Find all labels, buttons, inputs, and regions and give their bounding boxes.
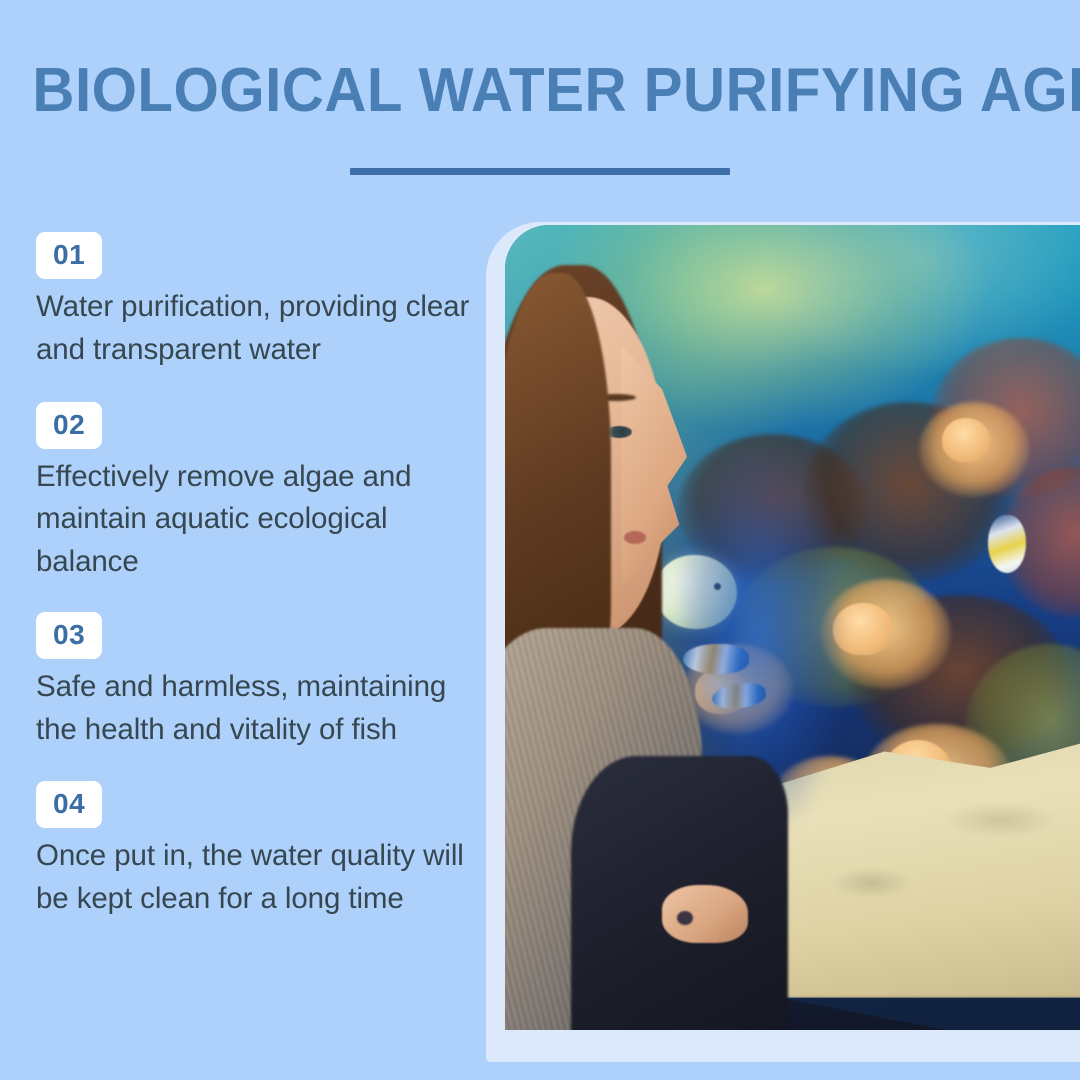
- feature-item-02: 02 Effectively remove algae and maintain…: [36, 402, 488, 584]
- feature-badge-02: 02: [36, 402, 102, 449]
- feature-badge-03: 03: [36, 612, 102, 659]
- coral-polyp-5: [942, 418, 990, 462]
- title-block: BIOLOGICAL WATER PURIFYING AGENT: [0, 58, 1080, 175]
- feature-badge-01: 01: [36, 232, 102, 279]
- feature-text-04: Once put in, the water quality will be k…: [36, 835, 488, 921]
- photo-content: [505, 225, 1080, 1030]
- feature-item-03: 03 Safe and harmless, maintaining the he…: [36, 612, 488, 752]
- infographic-poster: BIOLOGICAL WATER PURIFYING AGENT 01 Wate…: [0, 0, 1080, 1080]
- feature-item-04: 04 Once put in, the water quality will b…: [36, 781, 488, 921]
- feature-badge-04: 04: [36, 781, 102, 828]
- feature-text-03: Safe and harmless, maintaining the healt…: [36, 666, 488, 752]
- aquarium-photo: [505, 225, 1080, 1030]
- page-title: BIOLOGICAL WATER PURIFYING AGENT: [32, 58, 1047, 123]
- feature-list: 01 Water purification, providing clear a…: [36, 232, 488, 921]
- fish-angelfish: [988, 515, 1026, 573]
- hand: [662, 885, 748, 943]
- lips: [624, 531, 646, 544]
- feature-text-02: Effectively remove algae and maintain aq…: [36, 456, 488, 584]
- feature-item-01: 01 Water purification, providing clear a…: [36, 232, 488, 372]
- woman-figure: [505, 225, 758, 1030]
- title-divider: [350, 168, 730, 175]
- coral-polyp-2: [833, 603, 893, 655]
- feature-text-01: Water purification, providing clear and …: [36, 286, 488, 372]
